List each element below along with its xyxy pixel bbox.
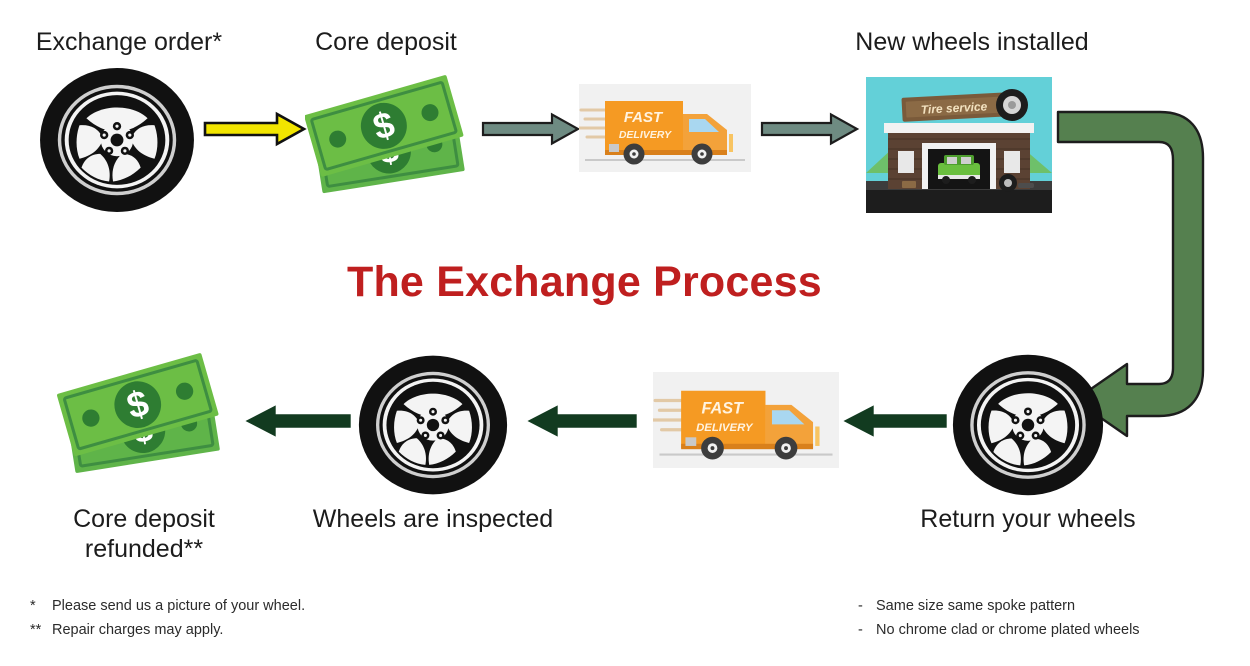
- footnote-text: No chrome clad or chrome plated wheels: [876, 622, 1140, 638]
- arrow-truck-to-inspected: [527, 405, 637, 437]
- arrow-order-to-deposit: [203, 112, 306, 146]
- exchange-process-diagram: Exchange order* Core deposit New wheels …: [0, 0, 1250, 666]
- step-label-new-wheels-installed: New wheels installed: [805, 28, 1139, 58]
- footnote-text: Repair charges may apply.: [52, 622, 223, 638]
- svg-text:FAST: FAST: [701, 400, 745, 418]
- step-label-line1: Core deposit: [20, 505, 268, 535]
- footnote-item: *Please send us a picture of your wheel.: [30, 595, 450, 619]
- arrow-return-to-truck: [843, 405, 947, 437]
- footnote-text: Please send us a picture of your wheel.: [52, 598, 305, 614]
- page-title: The Exchange Process: [347, 258, 822, 307]
- arrow-inspected-to-refund: [245, 405, 351, 437]
- arrow-truck-to-shop: [761, 113, 859, 145]
- footnote-item: -Same size same spoke pattern: [858, 595, 1250, 619]
- arrow-deposit-to-truck: [482, 113, 580, 145]
- footnote-text: Same size same spoke pattern: [876, 598, 1075, 614]
- svg-text:DELIVERY: DELIVERY: [696, 422, 754, 434]
- cash-money-icon: $ $: [305, 74, 477, 204]
- alloy-wheel-icon-inspected: [357, 353, 509, 497]
- footnote-marker: **: [30, 619, 52, 643]
- cash-money-icon-refund: $ $: [54, 352, 236, 484]
- svg-text:DELIVERY: DELIVERY: [619, 129, 672, 141]
- footnote-marker: -: [858, 595, 876, 619]
- step-label-wheels-inspected: Wheels are inspected: [291, 505, 575, 535]
- fast-delivery-truck-icon: FAST DELIVERY: [579, 84, 751, 172]
- tire-service-shop-icon: Tire service: [866, 77, 1052, 213]
- footnote-marker: -: [858, 619, 876, 643]
- fast-delivery-truck-icon-return: FAST DELIVERY: [653, 372, 839, 468]
- step-label-return-your-wheels: Return your wheels: [886, 505, 1170, 535]
- footnote-item: -No chrome clad or chrome plated wheels: [858, 619, 1250, 643]
- step-label-core-deposit: Core deposit: [272, 28, 500, 58]
- alloy-wheel-icon: [38, 66, 196, 214]
- step-label-line2: refunded**: [20, 535, 268, 565]
- footnotes-left: *Please send us a picture of your wheel.…: [30, 595, 450, 643]
- footnote-item: **Repair charges may apply.: [30, 619, 450, 643]
- step-label-core-deposit-refunded: Core deposit refunded**: [20, 505, 268, 564]
- svg-text:FAST: FAST: [624, 109, 664, 126]
- footnotes-right: -Same size same spoke pattern -No chrome…: [858, 595, 1250, 643]
- footnote-marker: *: [30, 595, 52, 619]
- alloy-wheel-icon-return: [951, 352, 1105, 498]
- step-label-exchange-order: Exchange order*: [0, 28, 258, 58]
